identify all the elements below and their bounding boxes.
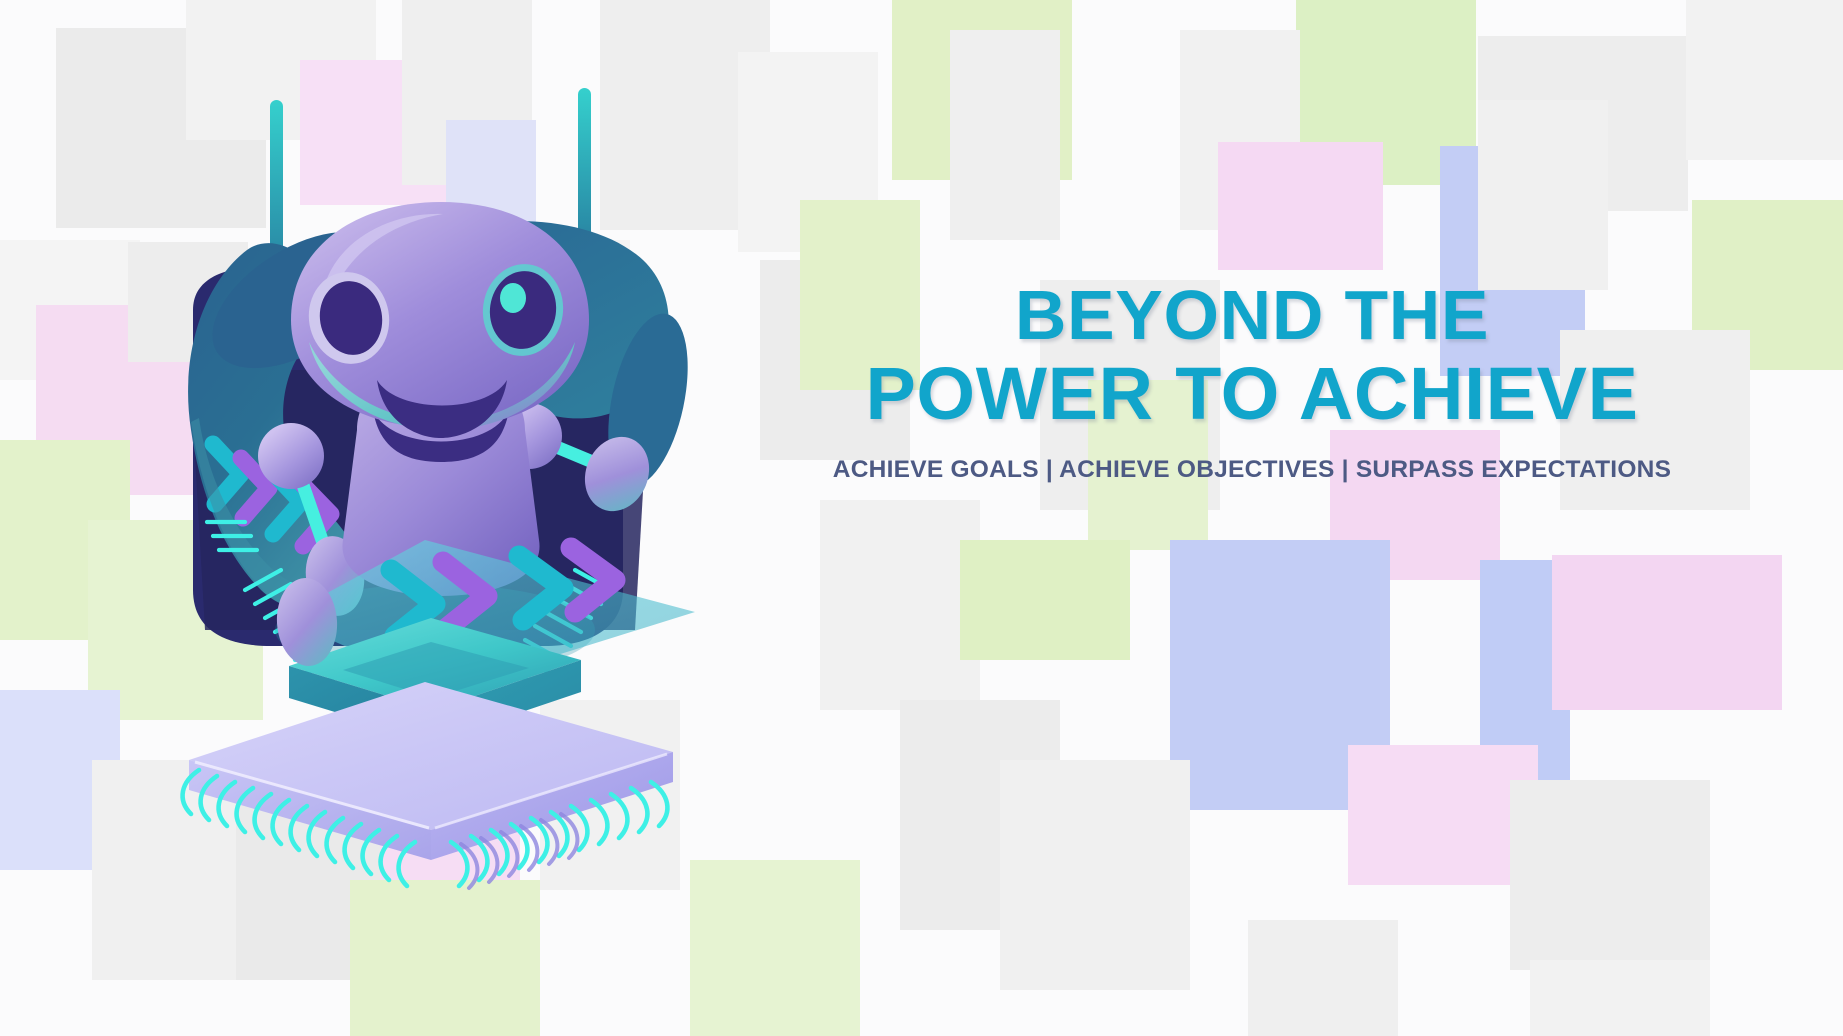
tile-gray-21 — [1000, 760, 1190, 990]
headline-line-1: BEYOND THE — [742, 278, 1762, 354]
tile-green-3 — [350, 880, 540, 1036]
tile-green-9 — [960, 540, 1130, 660]
promo-banner: BEYOND THE POWER TO ACHIEVE ACHIEVE GOAL… — [0, 0, 1843, 1036]
headline-line-2: POWER TO ACHIEVE — [742, 354, 1762, 434]
tile-gray-16 — [1686, 0, 1843, 160]
headline-block: BEYOND THE POWER TO ACHIEVE ACHIEVE GOAL… — [752, 278, 1752, 484]
tile-gray-19 — [820, 500, 980, 710]
tile-pink-6 — [1552, 555, 1782, 710]
tile-gray-23 — [1530, 960, 1710, 1036]
robot-microchip-illustration — [95, 70, 755, 870]
tile-green-10 — [690, 860, 860, 1036]
subheadline: ACHIEVE GOALS | ACHIEVE OBJECTIVES | SUR… — [752, 456, 1752, 484]
tile-gray-22 — [1510, 780, 1710, 970]
tile-gray-24 — [1248, 920, 1398, 1036]
tile-gray-12 — [950, 30, 1060, 240]
tile-gray-15 — [1478, 100, 1608, 290]
tile-pink-4 — [1218, 142, 1383, 270]
